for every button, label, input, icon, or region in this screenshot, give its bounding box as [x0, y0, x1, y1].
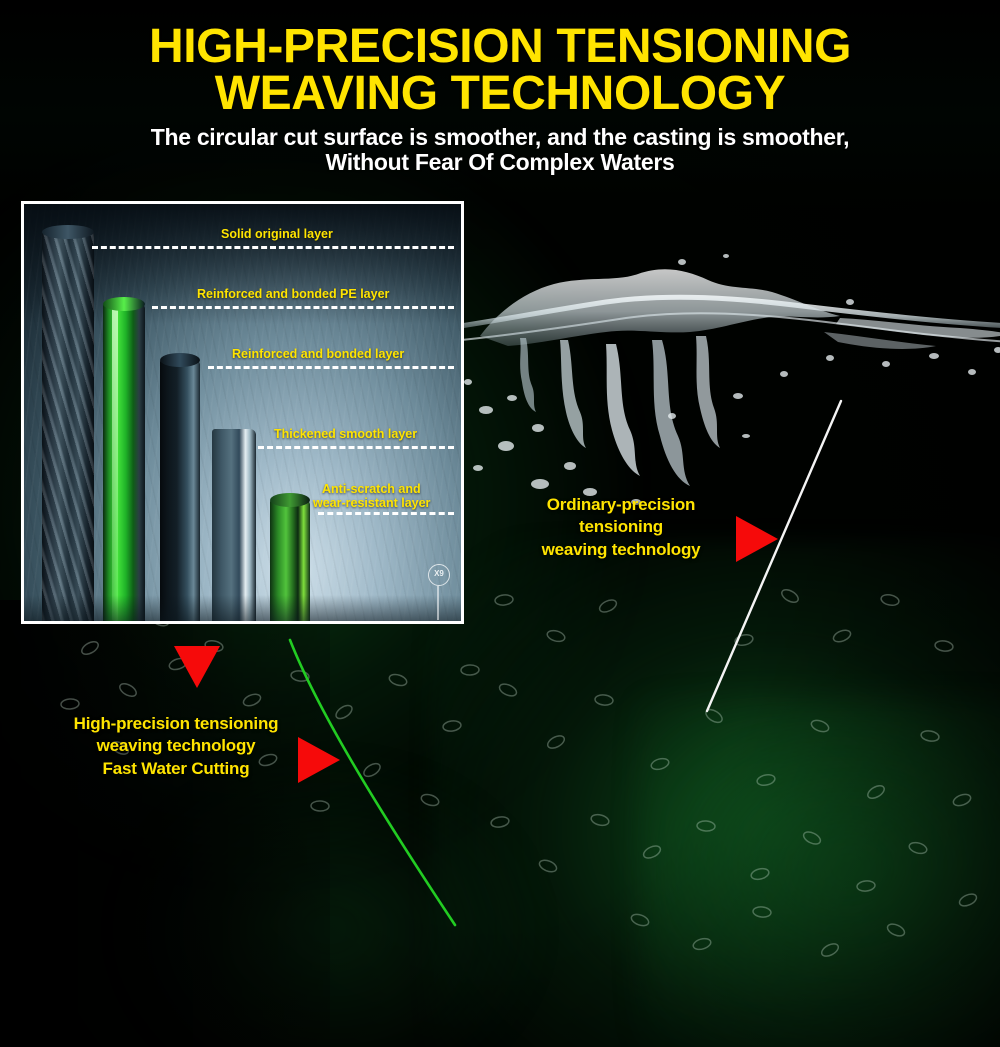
thickened-smooth-layer-bar [212, 429, 256, 621]
ordinary-precision-line-1: Ordinary-precision [512, 494, 730, 516]
header-block: HIGH-PRECISION TENSIONING WEAVING TECHNO… [0, 24, 1000, 175]
bar-top-cap [103, 297, 145, 311]
magnification-badge-stem [437, 586, 439, 620]
bar-highlight [112, 303, 118, 621]
bar-body [160, 359, 200, 621]
ordinary-precision-annotation: Ordinary-precision tensioning weaving te… [512, 494, 730, 561]
triangle-right-icon [736, 516, 778, 562]
bar-top-cap [212, 423, 256, 437]
inset-floor-shadow [24, 595, 461, 621]
ordinary-precision-line-3: weaving technology [512, 539, 730, 561]
bar-body [212, 429, 256, 621]
page-subtitle: The circular cut surface is smoother, an… [0, 125, 1000, 175]
page-title: HIGH-PRECISION TENSIONING WEAVING TECHNO… [0, 24, 1000, 117]
high-precision-line-1: High-precision tensioning [38, 713, 314, 735]
bar-top-cap [160, 353, 200, 367]
triangle-down-icon [174, 646, 220, 688]
bar-twist-texture [42, 231, 94, 621]
bar-body [103, 303, 145, 621]
high-precision-annotation: High-precision tensioning weaving techno… [38, 713, 314, 780]
high-precision-line-3: Fast Water Cutting [38, 758, 314, 780]
title-line-1: HIGH-PRECISION TENSIONING [0, 24, 1000, 71]
high-precision-line-2: weaving technology [38, 735, 314, 757]
layer-structure-inset [21, 201, 464, 624]
magnification-badge: X9 [428, 564, 450, 586]
title-line-2: WEAVING TECHNOLOGY [0, 71, 1000, 118]
promo-banner: HIGH-PRECISION TENSIONING WEAVING TECHNO… [0, 0, 1000, 1047]
bar-top-cap [270, 493, 310, 507]
bar-top-cap [42, 225, 94, 239]
subtitle-line-1: The circular cut surface is smoother, an… [0, 125, 1000, 150]
solid-original-layer-bar [42, 231, 94, 621]
ordinary-precision-line-2: tensioning [512, 516, 730, 538]
reinforced-bonded-layer-bar [160, 359, 200, 621]
reinforced-bonded-pe-layer-bar [103, 303, 145, 621]
subtitle-line-2: Without Fear Of Complex Waters [0, 150, 1000, 175]
